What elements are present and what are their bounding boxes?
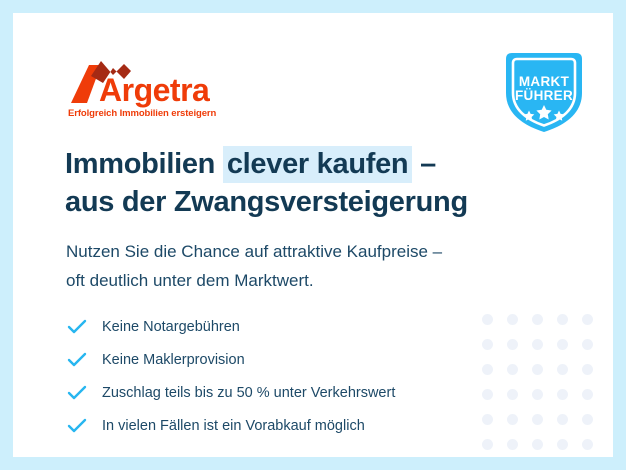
list-item-label: Zuschlag teils bis zu 50 % unter Verkehr… (91, 385, 395, 401)
argetra-logo[interactable]: Argetra Erfolgreich Immobilien ersteiger… (67, 57, 217, 119)
dot (507, 414, 518, 425)
check-icon (67, 385, 91, 401)
dot (582, 364, 593, 375)
check-icon (67, 418, 91, 434)
headline-part2: – (412, 148, 436, 180)
argetra-logo-mark: Argetra Erfolgreich Immobilien ersteiger… (67, 57, 217, 119)
shield-icon: MARKT FÜHRER (500, 49, 588, 135)
dot (507, 364, 518, 375)
list-item: Keine Notargebühren (67, 310, 497, 343)
dot (507, 339, 518, 350)
dot (532, 364, 543, 375)
list-item: In vielen Fällen ist ein Vorabkauf mögli… (67, 409, 497, 442)
dot (507, 389, 518, 400)
check-icon (67, 319, 91, 335)
dot (557, 339, 568, 350)
dot (532, 314, 543, 325)
dot (532, 439, 543, 450)
list-item-label: In vielen Fällen ist ein Vorabkauf mögli… (91, 418, 365, 434)
subheadline-line2: oft deutlich unter dem Marktwert. (66, 266, 546, 295)
list-item-label: Keine Notargebühren (91, 319, 240, 335)
headline-part1: Immobilien (65, 148, 223, 180)
dot (532, 339, 543, 350)
promo-banner: Argetra Erfolgreich Immobilien ersteiger… (13, 13, 613, 457)
benefit-list: Keine Notargebühren Keine Maklerprovisio… (67, 310, 497, 442)
dot (557, 439, 568, 450)
dot (582, 414, 593, 425)
dot (582, 389, 593, 400)
headline-line2: aus der Zwangsversteigerung (65, 183, 535, 221)
dot (557, 364, 568, 375)
svg-text:FÜHRER: FÜHRER (515, 88, 573, 103)
page-title: Immobilien clever kaufen – aus der Zwang… (65, 145, 535, 221)
headline-highlight: clever kaufen (223, 146, 413, 183)
subheadline: Nutzen Sie die Chance auf attraktive Kau… (66, 237, 546, 295)
list-item: Zuschlag teils bis zu 50 % unter Verkehr… (67, 376, 497, 409)
check-icon (67, 352, 91, 368)
dot (507, 439, 518, 450)
dot (582, 439, 593, 450)
svg-text:Erfolgreich Immobilien ersteig: Erfolgreich Immobilien ersteigern (68, 108, 217, 119)
markt-fuehrer-badge: MARKT FÜHRER (500, 49, 588, 135)
dot (582, 339, 593, 350)
list-item: Keine Maklerprovision (67, 343, 497, 376)
list-item-label: Keine Maklerprovision (91, 352, 245, 368)
subheadline-line1: Nutzen Sie die Chance auf attraktive Kau… (66, 237, 546, 266)
dot (507, 314, 518, 325)
dot (532, 389, 543, 400)
dot (557, 314, 568, 325)
dot (582, 314, 593, 325)
svg-text:Argetra: Argetra (99, 72, 210, 108)
dot (557, 389, 568, 400)
dot (557, 414, 568, 425)
dot (532, 414, 543, 425)
svg-text:MARKT: MARKT (519, 74, 570, 89)
